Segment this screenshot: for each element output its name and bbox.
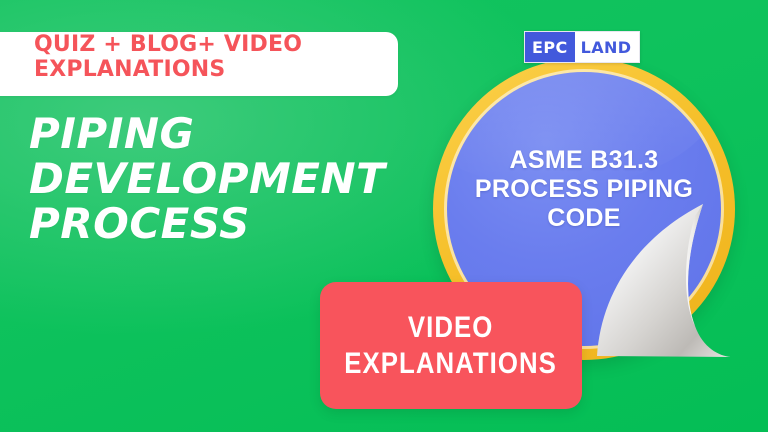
thumbnail-canvas: QUIZ + BLOG+ VIDEO EXPLANATIONS PIPING D… (0, 0, 768, 432)
video-explanations-label: VIDEO EXPLANATIONS (345, 310, 558, 382)
logo-epc-text: EPC (525, 32, 575, 62)
page-title: PIPING DEVELOPMENT PROCESS (29, 112, 449, 247)
top-banner-text: QUIZ + BLOG+ VIDEO EXPLANATIONS (34, 33, 394, 83)
video-explanations-badge[interactable]: VIDEO EXPLANATIONS (320, 282, 582, 409)
logo-land-text: LAND (575, 32, 640, 62)
badge-label: ASME B31.3 PROCESS PIPING CODE (443, 146, 725, 233)
epc-land-logo[interactable]: EPC LAND (524, 31, 640, 63)
